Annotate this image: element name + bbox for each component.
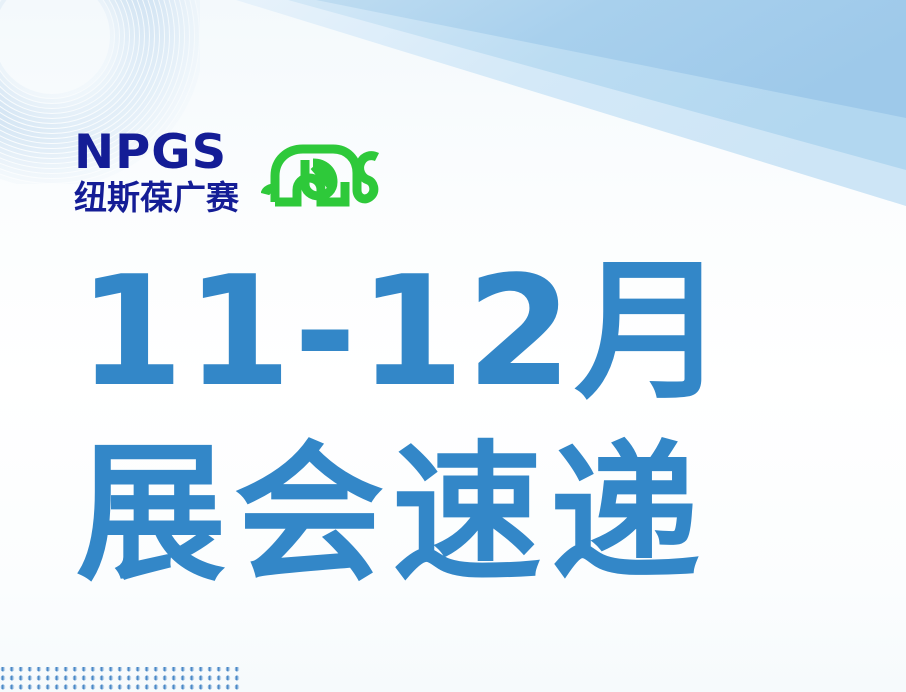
headline-block: 11-12月 展会速递 [70,256,850,590]
poster-content: NPGS 纽斯葆广赛 11-12月 [0,0,906,692]
brand-latin-name: NPGS [74,129,227,176]
brand-logo: NPGS 纽斯葆广赛 [74,128,381,216]
poster-canvas: NPGS 纽斯葆广赛 11-12月 [0,0,906,692]
elephant-icon [261,130,381,216]
headline-line-1: 11-12月 [78,256,850,408]
brand-chinese-name: 纽斯葆广赛 [74,181,239,216]
brand-wordmark: NPGS 纽斯葆广赛 [74,129,239,216]
headline-line-2: 展会速递 [76,440,850,590]
